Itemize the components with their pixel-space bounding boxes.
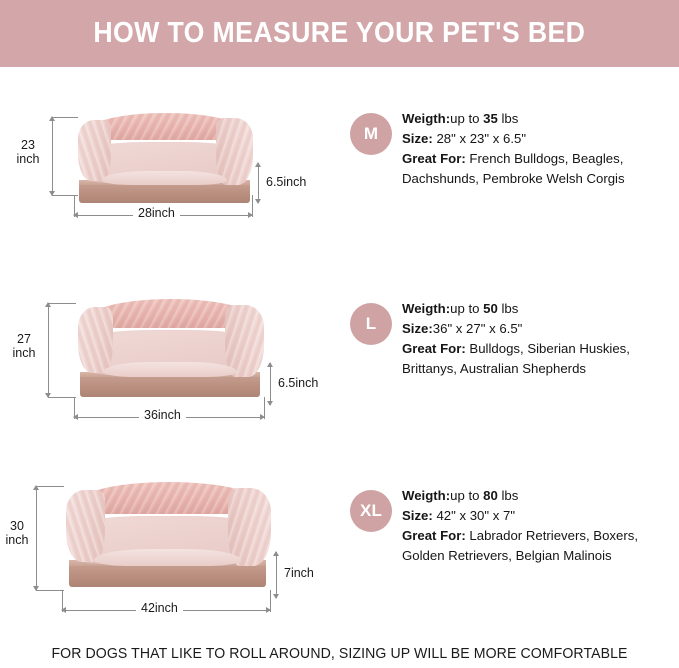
dog-bed-drawing [72,299,268,397]
great-for-breeds-1: French Bulldogs, Beagles, [466,151,624,166]
size-label: Size: [402,321,433,336]
great-for-breeds-1: Labrador Retrievers, Boxers, [466,528,638,543]
height-dimension-line [258,163,259,203]
depth-dimension-line [36,486,37,590]
bed-front-lip [102,171,228,185]
depth-ext-line-bottom [48,397,76,398]
weight-prefix: up to [450,301,483,316]
depth-value: 23 [6,139,50,153]
depth-ext-line-top [52,117,78,118]
weight-value: 80 [483,488,498,503]
bed-front-lip [94,549,240,566]
depth-dimension-line [48,303,49,397]
dog-bed-drawing [60,482,275,587]
width-dimension-label: 42inch [136,602,183,616]
weight-prefix: up to [450,488,483,503]
size-section-m: 23 inch 28inch 6.5inch M Weigth:up to 35… [0,95,679,275]
width-ext-line-left [74,195,75,217]
size-section-l: 27 inch 36inch 6.5inch L Weigth:up to 50… [0,285,679,465]
weight-line: Weigth:up to 50 lbs [402,299,679,319]
great-for-line-1: Great For: Bulldogs, Siberian Huskies, [402,339,679,359]
height-arrow-top [273,551,279,556]
weight-label: Weigth: [402,301,450,316]
width-dimension-label: 36inch [139,409,186,423]
footer-note: FOR DOGS THAT LIKE TO ROLL AROUND, SIZIN… [20,645,658,662]
size-value: 36" x 27" x 6.5" [433,321,523,336]
width-ext-line-right [252,195,253,217]
weight-suffix: lbs [498,111,519,126]
page-title: HOW TO MEASURE YOUR PET'S BED [94,17,586,50]
great-for-line-2: Golden Retrievers, Belgian Malinois [402,546,679,566]
great-for-line-1: Great For: French Bulldogs, Beagles, [402,149,679,169]
spec-block-m: M Weigth:up to 35 lbs Size: 28" x 23" x … [345,95,679,275]
height-arrow-top [267,362,273,367]
depth-ext-line-bottom [36,590,64,591]
weight-label: Weigth: [402,111,450,126]
bed-right-bolster-arm [216,118,253,185]
great-for-label: Great For: [402,528,466,543]
height-dimension-label: 7inch [284,567,314,581]
bed-left-bolster-arm [66,490,105,561]
bed-illustration-xl: 30 inch 42inch 7inch [0,472,335,652]
depth-dimension-label: 30 inch [0,520,34,547]
size-badge-xl: XL [350,490,392,532]
height-dimension-label: 6.5inch [266,176,306,190]
depth-dimension-line [52,117,53,195]
size-value: 28" x 23" x 6.5" [433,131,526,146]
height-arrow-top [255,162,261,167]
size-line: Size: 42" x 30" x 7" [402,506,679,526]
bed-left-bolster-arm [78,307,113,374]
size-line: Size: 28" x 23" x 6.5" [402,129,679,149]
width-ext-line-left [74,397,75,419]
great-for-label: Great For: [402,341,466,356]
great-for-label: Great For: [402,151,466,166]
size-label: Size: [402,508,433,523]
size-badge-m: M [350,113,392,155]
height-arrow-bottom [273,594,279,599]
bed-left-bolster-arm [78,120,111,181]
bed-illustration-m: 23 inch 28inch 6.5inch [0,95,335,275]
dog-bed-drawing [72,113,257,203]
depth-value: 30 [0,520,34,534]
depth-ext-line-top [36,486,64,487]
width-ext-line-right [270,590,271,612]
depth-dimension-label: 27 inch [2,333,46,360]
great-for-line-1: Great For: Labrador Retrievers, Boxers, [402,526,679,546]
height-dimension-line [270,363,271,405]
bed-front-lip [103,362,236,378]
size-section-xl: 30 inch 42inch 7inch XL Weigth:up to 80 … [0,472,679,652]
width-ext-line-left [62,590,63,612]
size-label: Size: [402,131,433,146]
width-ext-line-right [264,397,265,419]
spec-text-l: Weigth:up to 50 lbs Size:36" x 27" x 6.5… [402,299,679,379]
header-banner: HOW TO MEASURE YOUR PET'S BED [0,0,679,67]
weight-prefix: up to [450,111,483,126]
size-value: 42" x 30" x 7" [433,508,515,523]
width-dimension-label: 28inch [133,207,180,221]
weight-value: 35 [483,111,498,126]
depth-unit: inch [0,534,34,548]
size-badge-l: L [350,303,392,345]
depth-ext-line-top [48,303,76,304]
great-for-breeds-1: Bulldogs, Siberian Huskies, [466,341,630,356]
weight-line: Weigth:up to 35 lbs [402,109,679,129]
depth-unit: inch [2,347,46,361]
height-dimension-label: 6.5inch [278,377,318,391]
height-arrow-bottom [267,401,273,406]
spec-text-m: Weigth:up to 35 lbs Size: 28" x 23" x 6.… [402,109,679,189]
spec-text-xl: Weigth:up to 80 lbs Size: 42" x 30" x 7"… [402,486,679,566]
depth-unit: inch [6,153,50,167]
weight-label: Weigth: [402,488,450,503]
weight-suffix: lbs [498,488,519,503]
depth-value: 27 [2,333,46,347]
size-line: Size:36" x 27" x 6.5" [402,319,679,339]
height-arrow-bottom [255,199,261,204]
great-for-line-2: Dachshunds, Pembroke Welsh Corgis [402,169,679,189]
weight-suffix: lbs [498,301,519,316]
weight-value: 50 [483,301,498,316]
great-for-line-2: Brittanys, Australian Shepherds [402,359,679,379]
weight-line: Weigth:up to 80 lbs [402,486,679,506]
spec-block-l: L Weigth:up to 50 lbs Size:36" x 27" x 6… [345,285,679,465]
height-dimension-line [276,552,277,598]
spec-block-xl: XL Weigth:up to 80 lbs Size: 42" x 30" x… [345,472,679,652]
bed-illustration-l: 27 inch 36inch 6.5inch [0,285,335,465]
depth-dimension-label: 23 inch [6,139,50,166]
